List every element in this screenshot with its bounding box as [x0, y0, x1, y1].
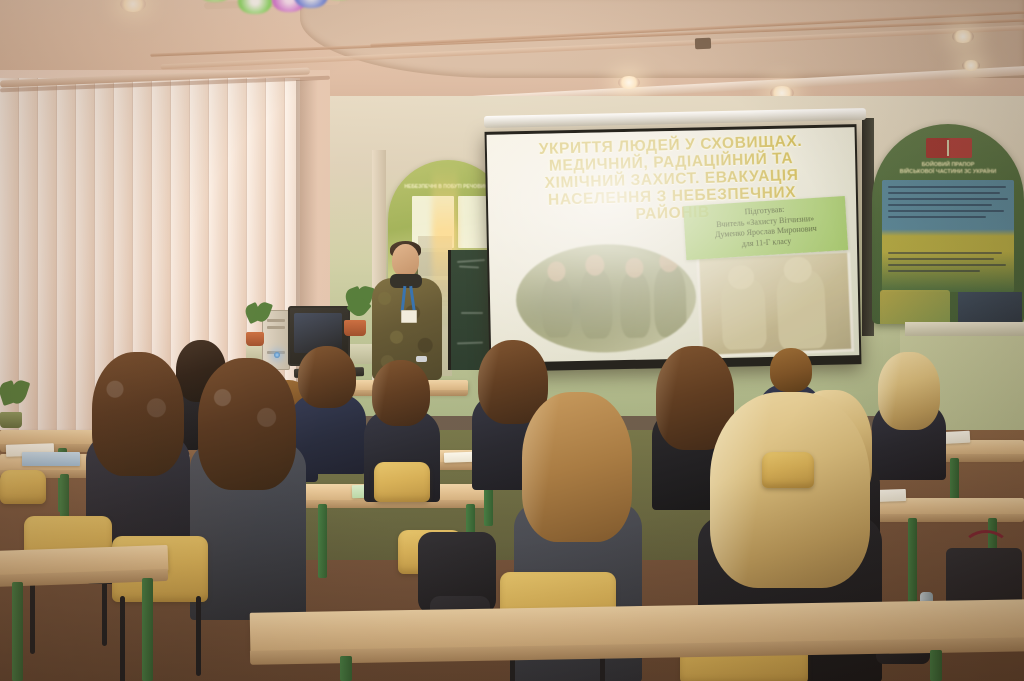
chair-mid-far-left	[0, 470, 46, 504]
student-s05-hair	[372, 360, 430, 426]
student-s11-hair	[710, 392, 870, 588]
ceiling-downlight-2	[618, 76, 640, 89]
ceiling-downlight-5	[962, 60, 980, 71]
handbag-handle	[962, 530, 1010, 568]
poster-right-title: БОЙОВИЙ ПРАПОР ВІЙСЬКОВОЇ ЧАСТИНИ ЗС УКР…	[880, 162, 1016, 176]
wall-shelf	[905, 322, 1024, 336]
chair-back-right	[762, 452, 814, 488]
student-s01-hair	[92, 352, 184, 476]
slide-author-box: Підготував: Вчитель «Захисту Вітчизни» Д…	[683, 196, 848, 260]
student-s13-hair	[198, 358, 296, 490]
chair-mid-left	[374, 462, 430, 502]
student-s12-hair	[522, 392, 632, 542]
ceiling-panel	[300, 0, 1024, 78]
cable-clip	[695, 38, 711, 50]
poster-right-body	[882, 180, 1014, 292]
poster-right-photo	[958, 292, 1022, 324]
ceiling-downlight-1	[120, 0, 146, 12]
book-stack-left	[22, 452, 80, 466]
potted-plant-centre	[246, 300, 272, 346]
student-s09	[872, 352, 946, 480]
slide-photo-oval-soldiers	[515, 243, 697, 355]
student-s04-hair	[770, 348, 812, 392]
projected-slide: УКРИТТЯ ЛЮДЕЙ У СХОВИЩАХ. МЕДИЧНИЙ, РАДІ…	[487, 127, 860, 363]
slide-photo-protective-suits	[696, 250, 854, 358]
lamp-flower-green-2	[238, 0, 272, 14]
student-s03-hair	[298, 346, 356, 408]
poster-right-map	[880, 290, 950, 324]
poster-right-emblem-icon	[926, 138, 972, 158]
multicolour-led-flower-lamp	[196, 0, 348, 18]
student-s09-hair	[878, 352, 940, 430]
classroom-photo: НЕБЕЗПЕЧНІ В ПОБУТІ РЕЧОВИНИ ПРАВИЛА БЕЗ…	[0, 0, 1024, 681]
teacher-id-badge	[401, 310, 417, 323]
poster-right-battle-flag: БОЙОВИЙ ПРАПОР ВІЙСЬКОВОЇ ЧАСТИНИ ЗС УКР…	[872, 124, 1024, 324]
projector-screen: УКРИТТЯ ЛЮДЕЙ У СХОВИЩАХ. МЕДИЧНИЙ, РАДІ…	[485, 124, 862, 372]
potted-plant-left	[0, 380, 28, 428]
ceiling-downlight-4	[952, 30, 974, 43]
